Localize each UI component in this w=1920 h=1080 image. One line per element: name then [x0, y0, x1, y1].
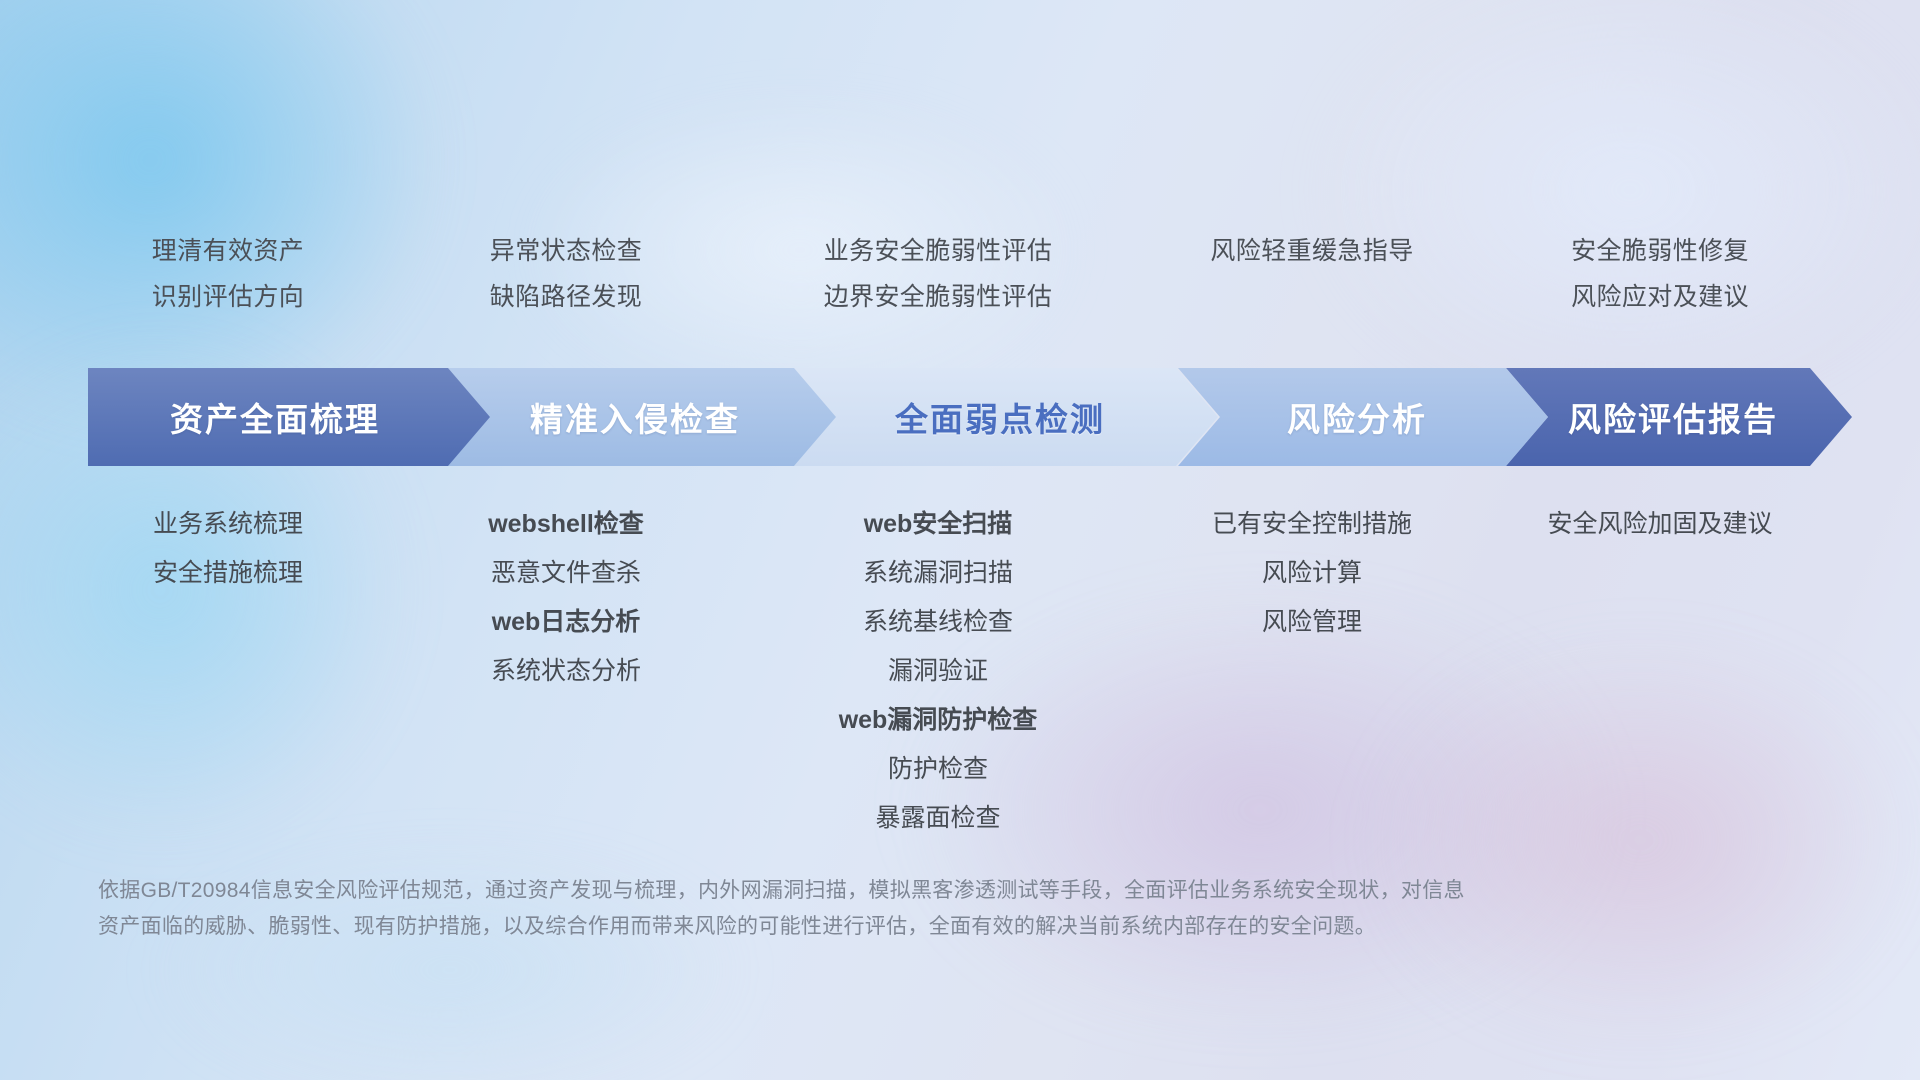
bottom-list-risk-report: 安全风险加固及建议 — [1400, 500, 1920, 549]
stage-arrow-asset-inventory[interactable]: 资产全面梳理 — [88, 368, 490, 466]
bottom-list-item: 漏洞验证 — [678, 647, 1198, 696]
stage-arrow-risk-report[interactable]: 风险评估报告 — [1506, 368, 1852, 466]
bottom-list-item: 风险计算 — [1052, 549, 1572, 598]
footer-description: 依据GB/T20984信息安全风险评估规范，通过资产发现与梳理，内外网漏洞扫描，… — [98, 873, 1738, 945]
stage-arrow-label: 风险评估报告 — [1568, 393, 1778, 441]
stage-arrow-label: 风险分析 — [1287, 393, 1427, 441]
stage-arrow-band: 资产全面梳理精准入侵检查全面弱点检测风险分析风险评估报告 — [88, 368, 1852, 466]
stage-arrow-label: 资产全面梳理 — [170, 393, 380, 441]
top-caption-line: 风险应对及建议 — [1400, 274, 1920, 320]
footer-line-1: 依据GB/T20984信息安全风险评估规范，通过资产发现与梳理，内外网漏洞扫描，… — [98, 873, 1738, 909]
top-caption-line: 安全脆弱性修复 — [1400, 228, 1920, 274]
bottom-list-item: web漏洞防护检查 — [678, 696, 1198, 745]
bottom-list-item: 暴露面检查 — [678, 794, 1198, 843]
process-diagram: 理清有效资产识别评估方向异常状态检查缺陷路径发现业务安全脆弱性评估边界安全脆弱性… — [0, 0, 1920, 1080]
stage-arrow-weakness-detection[interactable]: 全面弱点检测 — [794, 368, 1218, 466]
stage-arrow-label: 全面弱点检测 — [895, 393, 1105, 441]
stage-arrow-risk-analysis[interactable]: 风险分析 — [1178, 368, 1548, 466]
footer-line-2: 资产面临的威胁、脆弱性、现有防护措施，以及综合作用而带来风险的可能性进行评估，全… — [98, 909, 1738, 945]
bottom-list-item: 防护检查 — [678, 745, 1198, 794]
bottom-list-item: 风险管理 — [1052, 598, 1572, 647]
stage-arrow-intrusion-check[interactable]: 精准入侵检查 — [446, 368, 836, 466]
stage-arrow-label: 精准入侵检查 — [530, 393, 740, 441]
top-caption-line: 边界安全脆弱性评估 — [678, 274, 1198, 320]
bottom-list-item: 安全风险加固及建议 — [1400, 500, 1920, 549]
top-caption-col-risk-report: 安全脆弱性修复风险应对及建议 — [1400, 228, 1920, 320]
